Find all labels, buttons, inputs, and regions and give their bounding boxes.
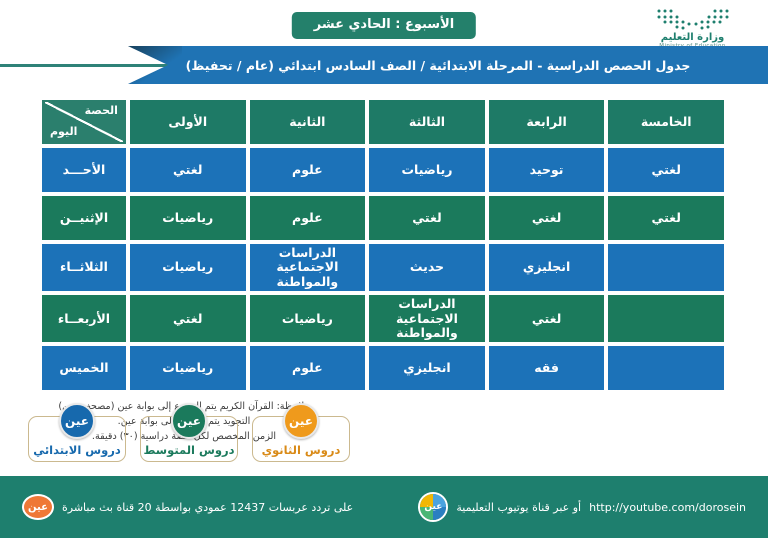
cell-sunday-p2: علوم <box>250 148 366 192</box>
table-row: لغتي توحيد رياضيات علوم لغتي الأحـــد <box>42 148 724 192</box>
day-label-tuesday: الثلاثــاء <box>42 244 126 291</box>
level-badges: عين دروس الثانوي عين دروس المتوسط عين در… <box>28 416 350 462</box>
schedule-header-row: الخامسة الرابعة الثالثة الثانية الأولى ا… <box>42 100 724 144</box>
level-badge-intermediate[interactable]: عين دروس المتوسط <box>140 416 238 462</box>
ein-youtube-logo-text: عين <box>424 502 442 512</box>
ein-logo-icon: عين <box>59 403 95 439</box>
level-badge-label-secondary: دروس الثانوي <box>262 443 341 457</box>
period-header-3: الثالثة <box>369 100 485 144</box>
level-badge-label-primary: دروس الابتدائي <box>33 443 121 457</box>
cell-thursday-p2: علوم <box>250 346 366 390</box>
footer-youtube: http://youtube.com/dorosein أو عبر قناة … <box>418 492 746 522</box>
day-label-thursday: الخميس <box>42 346 126 390</box>
footer-broadcast: على تردد عربسات 12437 عمودي بواسطة 20 قن… <box>22 494 353 520</box>
table-row: انجليزي حديث الدراسات الاجتماعية والمواط… <box>42 244 724 291</box>
period-header-2: الرابعة <box>489 100 605 144</box>
cell-wednesday-p2: رياضيات <box>250 295 366 342</box>
cell-tuesday-p2: الدراسات الاجتماعية والمواطنة <box>250 244 366 291</box>
period-header-4: الثانية <box>250 100 366 144</box>
cell-tuesday-p1: رياضيات <box>130 244 246 291</box>
page-title: جدول الحصص الدراسية - المرحلة الابتدائية… <box>186 58 711 73</box>
level-badge-primary[interactable]: عين دروس الابتدائي <box>28 416 126 462</box>
day-label-wednesday: الأربعــاء <box>42 295 126 342</box>
cell-monday-p3: لغتي <box>369 196 485 240</box>
schedule-table: الخامسة الرابعة الثالثة الثانية الأولى ا… <box>38 96 728 394</box>
cell-sunday-p1: لغتي <box>130 148 246 192</box>
youtube-text: أو عبر قناة يوتيوب التعليمية <box>456 501 581 514</box>
cell-monday-p4: لغتي <box>489 196 605 240</box>
ministry-emblem-icon <box>656 8 730 30</box>
ein-logo-icon: عين <box>283 403 319 439</box>
cell-sunday-p4: توحيد <box>489 148 605 192</box>
title-banner: جدول الحصص الدراسية - المرحلة الابتدائية… <box>128 46 768 84</box>
cell-monday-p2: علوم <box>250 196 366 240</box>
cell-thursday-p4: فقه <box>489 346 605 390</box>
level-badge-secondary[interactable]: عين دروس الثانوي <box>252 416 350 462</box>
day-label-monday: الإثنيــن <box>42 196 126 240</box>
header-area: وزارة التعليم Ministry of Education الأس… <box>0 0 768 88</box>
ministry-name-arabic: وزارة التعليم <box>635 33 750 43</box>
broadcast-text: على تردد عربسات 12437 عمودي بواسطة 20 قن… <box>62 501 353 514</box>
ein-logo-icon: عين <box>171 403 207 439</box>
cell-wednesday-p3: الدراسات الاجتماعية والمواطنة <box>369 295 485 342</box>
cell-wednesday-p5 <box>608 295 724 342</box>
cell-wednesday-p4: لغتي <box>489 295 605 342</box>
footer-bar: http://youtube.com/dorosein أو عبر قناة … <box>0 476 768 538</box>
cell-thursday-p1: رياضيات <box>130 346 246 390</box>
ministry-logo: وزارة التعليم Ministry of Education <box>635 8 750 50</box>
corner-day-label: اليوم <box>50 126 77 139</box>
level-badge-label-intermediate: دروس المتوسط <box>143 443 234 457</box>
table-row: لغتي لغتي لغتي علوم رياضيات الإثنيــن <box>42 196 724 240</box>
week-badge: الأسبوع : الحادي عشر <box>292 12 476 39</box>
day-label-sunday: الأحـــد <box>42 148 126 192</box>
cell-thursday-p5 <box>608 346 724 390</box>
cell-monday-p1: رياضيات <box>130 196 246 240</box>
cell-sunday-p5: لغتي <box>608 148 724 192</box>
cell-tuesday-p3: حديث <box>369 244 485 291</box>
cell-wednesday-p1: لغتي <box>130 295 246 342</box>
youtube-url[interactable]: http://youtube.com/dorosein <box>589 501 746 514</box>
corner-period-label: الحصة <box>85 105 118 118</box>
cell-tuesday-p4: انجليزي <box>489 244 605 291</box>
table-row: فقه انجليزي علوم رياضيات الخميس <box>42 346 724 390</box>
ein-logo-icon: عين <box>22 494 54 520</box>
cell-thursday-p3: انجليزي <box>369 346 485 390</box>
title-banner-shape: جدول الحصص الدراسية - المرحلة الابتدائية… <box>128 46 768 84</box>
corner-header: الحصة اليوم <box>42 100 126 144</box>
table-row: لغتي الدراسات الاجتماعية والمواطنة رياضي… <box>42 295 724 342</box>
cell-monday-p5: لغتي <box>608 196 724 240</box>
period-header-5: الأولى <box>130 100 246 144</box>
cell-sunday-p3: رياضيات <box>369 148 485 192</box>
period-header-1: الخامسة <box>608 100 724 144</box>
cell-tuesday-p5 <box>608 244 724 291</box>
ein-youtube-logo-icon: عين <box>418 492 448 522</box>
